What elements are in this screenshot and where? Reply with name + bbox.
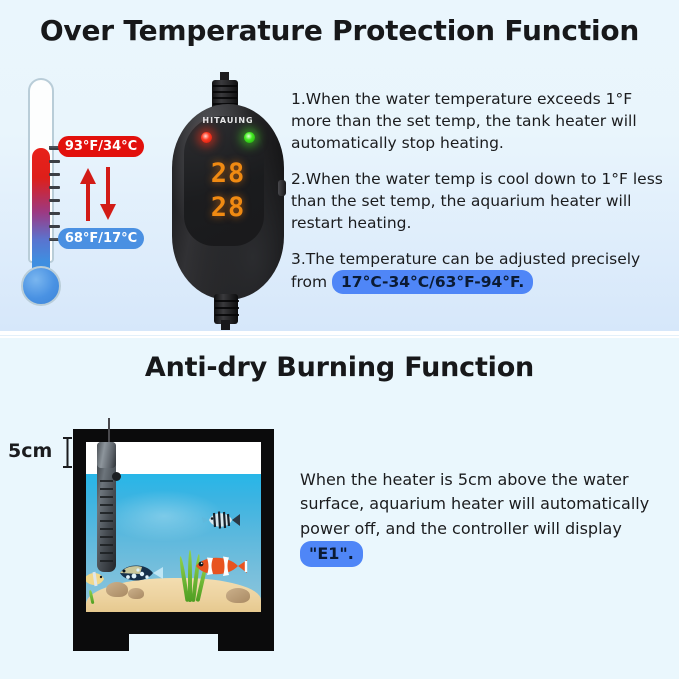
heater-coil-line <box>100 528 113 530</box>
controller-display-current-temp: 28 <box>168 158 288 189</box>
tank-heater-suction-ring <box>112 472 121 481</box>
controller-display-set-temp: 28 <box>168 192 288 223</box>
thermometer-tick <box>49 199 60 202</box>
heater-coil-line <box>100 488 113 490</box>
instruction-point-2: 2.When the water temp is cool down to 1°… <box>291 168 676 234</box>
heater-coil-line <box>100 544 113 546</box>
infographic-page: Over Temperature Protection Function 93°… <box>0 0 679 679</box>
thermometer-bulb <box>21 266 61 306</box>
instruction-point-1: 1.When the water temperature exceeds 1°F… <box>291 88 676 154</box>
page-title-over-temperature: Over Temperature Protection Function <box>0 14 679 47</box>
thermometer-mercury <box>32 148 50 283</box>
tank-fish-angelfish <box>198 508 240 536</box>
thermometer-tick <box>49 212 60 215</box>
heater-coil-line <box>100 520 113 522</box>
led-green-indicator-icon <box>244 132 255 143</box>
thermometer-tick <box>49 173 60 176</box>
measurement-label: 5cm <box>8 440 52 462</box>
anti-dry-instructions: When the heater is 5cm above the water s… <box>300 468 675 567</box>
thermometer-cold-label: 68°F/17°C <box>58 228 144 249</box>
heater-coil-line <box>100 512 113 514</box>
section-divider <box>0 331 679 338</box>
over-temperature-instructions: 1.When the water temperature exceeds 1°F… <box>291 88 676 308</box>
aquarium-tank-graphic <box>64 418 284 658</box>
thermometer-tick <box>49 186 60 189</box>
heater-power-cord <box>108 418 110 444</box>
heater-controller-graphic: HITAUING 28 28 <box>168 72 288 330</box>
heater-coil-line <box>100 480 113 482</box>
tank-stand-crossbar <box>73 625 274 634</box>
controller-side-button[interactable] <box>278 180 286 196</box>
error-code-highlight: "E1". <box>300 541 363 567</box>
controller-cord-bottom <box>221 320 230 330</box>
heater-coil-line <box>100 552 113 554</box>
heater-coil-line <box>100 560 113 562</box>
instruction-point-3: 3.The temperature can be adjusted precis… <box>291 248 676 294</box>
thermometer-tick <box>49 225 60 228</box>
over-temperature-section: Over Temperature Protection Function 93°… <box>0 0 679 331</box>
controller-brand-label: HITAUING <box>168 116 288 125</box>
anti-dry-instruction-text: When the heater is 5cm above the water s… <box>300 470 649 538</box>
tank-fish-spotted <box>112 560 164 590</box>
page-title-anti-dry: Anti-dry Burning Function <box>0 352 679 383</box>
tank-rock <box>226 588 250 603</box>
tank-fish-clownfish <box>190 552 248 584</box>
temperature-range-highlight: 17°C-34°C/63°F-94°F. <box>332 270 533 294</box>
heater-coil-line <box>100 496 113 498</box>
temperature-updown-arrows-icon <box>76 165 122 223</box>
thermometer-graphic <box>16 78 66 318</box>
tank-heater-cap <box>97 442 116 468</box>
heater-coil-line <box>100 536 113 538</box>
thermometer-tick <box>49 160 60 163</box>
led-red-indicator-icon <box>201 132 212 143</box>
thermometer-hot-label: 93°F/34°C <box>58 136 144 157</box>
heater-coil-line <box>100 504 113 506</box>
